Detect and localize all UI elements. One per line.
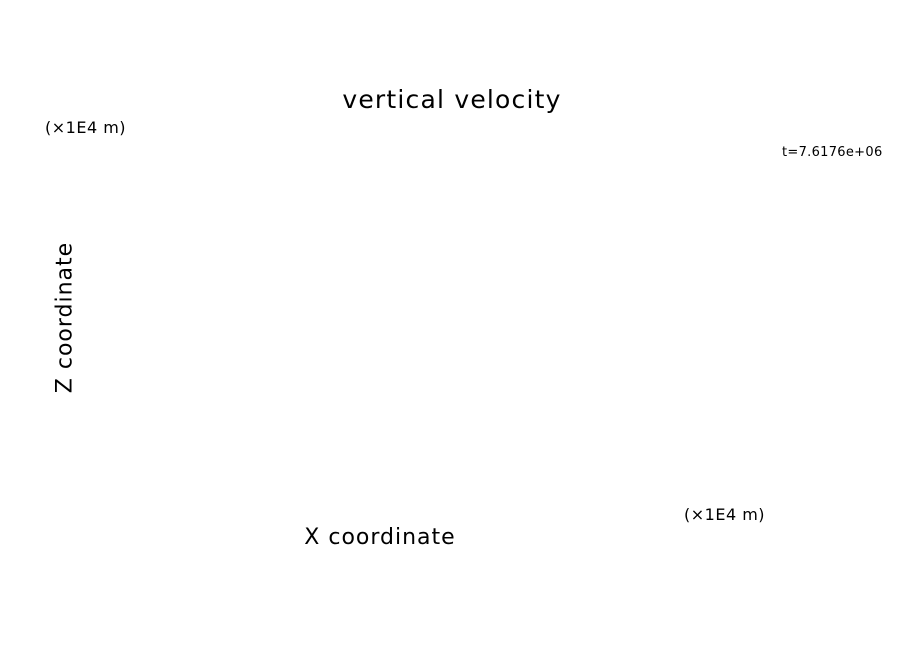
y-axis-unit-label: (×1E4 m) (45, 118, 126, 137)
colorbar (779, 196, 807, 518)
y-axis-title: Z coordinate (53, 218, 78, 418)
x-axis-unit-label: (×1E4 m) (684, 505, 765, 524)
x-axis-title: X coordinate (0, 525, 760, 550)
time-annotation: t=7.6176e+06 (782, 145, 883, 160)
chart-title: vertical velocity (0, 85, 904, 114)
contour-plot-area (134, 155, 772, 471)
